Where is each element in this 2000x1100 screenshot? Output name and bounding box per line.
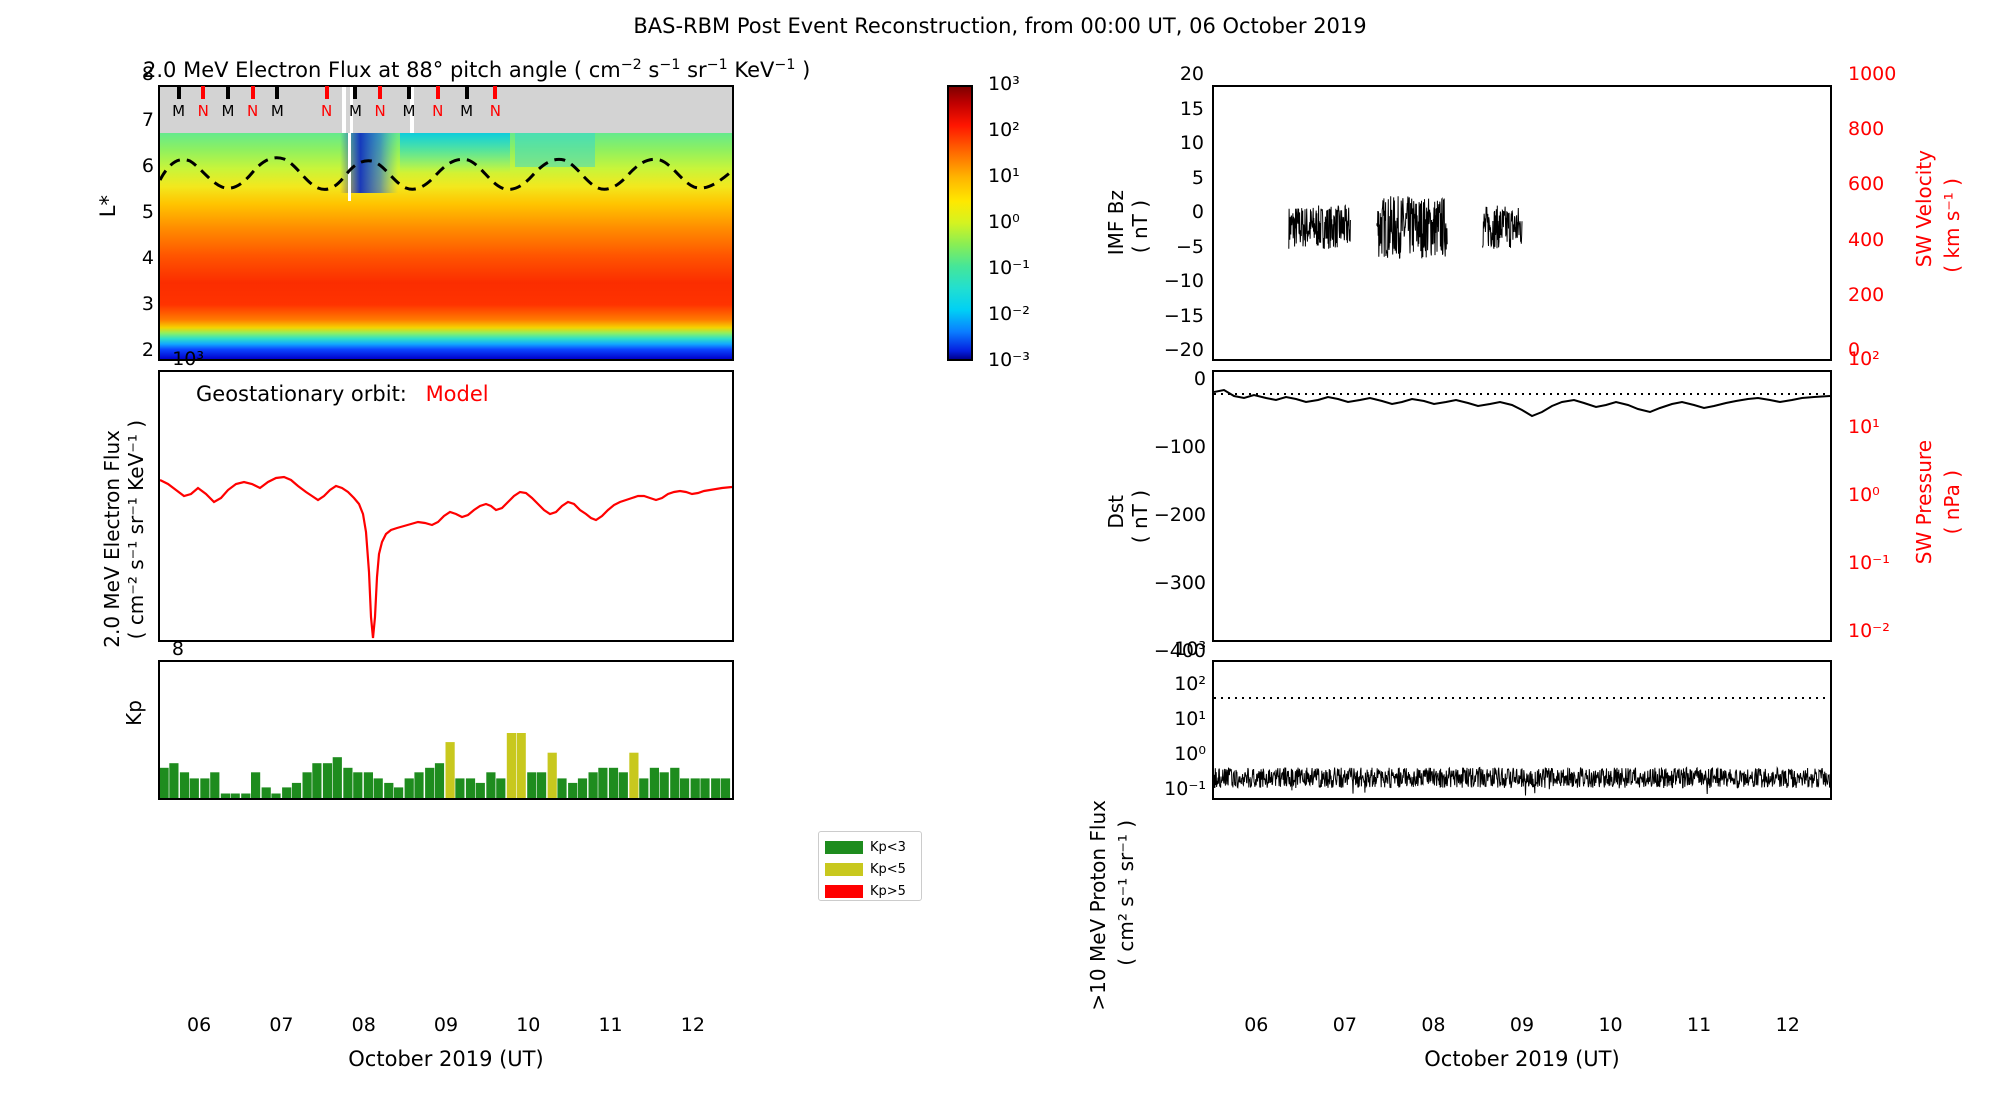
kp-bar — [251, 772, 260, 798]
heatmap-ylabel: L* — [96, 195, 120, 222]
proton-trace — [1214, 768, 1830, 796]
kp-bar — [231, 794, 240, 799]
cb-ticks-tick: 10⁻² — [980, 303, 1058, 325]
pf-yticks-tick: 10⁰ — [1140, 743, 1214, 765]
kp-bar — [527, 772, 536, 798]
pf-xticks-tick: 12 — [1768, 1014, 1808, 1036]
marker-label-n: N — [426, 102, 450, 120]
cb-ticks-tick: 10⁻³ — [980, 349, 1058, 371]
colorbar-tick-labels: 10³10²10¹10⁰10⁻¹10⁻²10⁻³ — [980, 85, 1050, 361]
pf-xticks-tick: 07 — [1325, 1014, 1365, 1036]
kp-bar — [425, 768, 434, 798]
imf-yticks-l-tick: 10 — [1148, 132, 1212, 154]
dst-yticks-r-tick: 10¹ — [1840, 416, 1918, 438]
proton-flux-plot[interactable] — [1212, 660, 1832, 800]
dst-yticks-l-tick: 0 — [1140, 368, 1214, 390]
imf-ytick-labels-right: 10008006004002000 — [1840, 75, 1910, 365]
cb-ticks-tick: 10¹ — [980, 165, 1058, 187]
kp-bar — [598, 768, 607, 798]
imf-yticks-r-tick: 1000 — [1840, 63, 1918, 85]
dst-yticks-l-tick: −300 — [1140, 572, 1214, 594]
dst-ytick-labels-left: 0−100−200−300−400 — [1140, 380, 1206, 650]
imf-yticks-l-tick: −10 — [1148, 270, 1212, 292]
kp-bar — [650, 768, 659, 798]
kp-legend: Kp<3Kp<5Kp>5 — [818, 831, 922, 901]
dst-ylabel-right: SW Pressure — [1912, 440, 1936, 569]
kp-bar — [700, 778, 709, 798]
kp-bar — [180, 772, 189, 798]
imf-bz-segment — [1377, 196, 1447, 258]
dst-ylabel-left: Dst — [1104, 495, 1128, 534]
kp-bar — [374, 778, 383, 798]
kp-xticks-tick: 11 — [591, 1014, 631, 1036]
kp-bar — [517, 733, 526, 798]
dst-yticks-l-tick: −100 — [1140, 436, 1214, 458]
subtitle-d: sr — [680, 58, 706, 82]
imf-yticks-r-tick: 800 — [1840, 118, 1918, 140]
geo-flux-model-line — [160, 477, 732, 638]
heatmap-ytick-labels: 8765432 — [118, 75, 154, 365]
hm-yticks-tick: 4 — [118, 247, 162, 269]
kp-legend-item: Kp>5 — [825, 880, 915, 902]
dst-yticks-r-tick: 10⁻¹ — [1840, 552, 1918, 574]
kp-bar — [721, 778, 730, 798]
imf-yticks-l-tick: 0 — [1148, 201, 1212, 223]
kp-legend-label: Kp<5 — [870, 862, 906, 877]
gf-yticks-tick: 10³ — [148, 348, 212, 370]
marker-label-n: N — [368, 102, 392, 120]
kp-bar — [711, 778, 720, 798]
marker-tick-n — [251, 86, 255, 99]
kp-bar — [609, 768, 618, 798]
kp-bar — [282, 787, 291, 798]
kp-bar — [312, 763, 321, 798]
marker-tick-m — [177, 86, 181, 99]
dst-ylabel-right-line1: SW Pressure — [1912, 440, 1936, 564]
imf-yticks-l-tick: 20 — [1148, 63, 1212, 85]
kp-xticks-tick: 07 — [261, 1014, 301, 1036]
subtitle-c: s — [642, 58, 660, 82]
imf-bz-segment — [1289, 206, 1351, 249]
kp-yticks-tick: 8 — [148, 638, 192, 660]
subtitle-e: KeV — [728, 58, 775, 82]
hm-yticks-tick: 7 — [118, 109, 162, 131]
proton-xtick-labels: 06070809101112 — [1212, 1014, 1832, 1040]
dst-yticks-r-tick: 10² — [1840, 348, 1918, 370]
imf-yticks-l-tick: −15 — [1148, 305, 1212, 327]
kp-bar — [169, 763, 178, 798]
kp-legend-item: Kp<5 — [825, 858, 915, 880]
kp-bar — [691, 778, 700, 798]
imf-ylabel-left-line1: IMF Bz — [1104, 190, 1128, 255]
kp-bar — [271, 794, 280, 799]
kp-bar — [537, 772, 546, 798]
kp-legend-item: Kp<3 — [825, 836, 915, 858]
pf-xticks-tick: 09 — [1502, 1014, 1542, 1036]
kp-xtick-labels: 06070809101112 — [158, 1014, 734, 1040]
subtitle-sup4: −1 — [774, 57, 795, 73]
heatmap-marker-row: MNMNMNMNMNMN — [158, 86, 734, 128]
pf-yticks-tick: 10¹ — [1140, 708, 1214, 730]
kp-bar — [660, 772, 669, 798]
kp-bar — [384, 783, 393, 798]
imf-ylabel-right-line1: SW Velocity — [1912, 150, 1936, 267]
cb-ticks-tick: 10⁻¹ — [980, 257, 1058, 279]
kp-bar — [333, 757, 342, 798]
marker-label-n: N — [315, 102, 339, 120]
page-title: BAS-RBM Post Event Reconstruction, from … — [0, 14, 2000, 38]
colorbar-gradient — [949, 87, 971, 359]
kp-bar — [210, 772, 219, 798]
hm-yticks-tick: 8 — [118, 63, 162, 85]
marker-tick-n — [325, 86, 329, 99]
kp-bar — [200, 778, 209, 798]
kp-bar — [670, 768, 679, 798]
kp-legend-swatch — [825, 841, 863, 854]
marker-tick-n — [493, 86, 497, 99]
kp-bar — [629, 753, 638, 798]
marker-tick-m — [226, 86, 230, 99]
marker-label-m: M — [455, 102, 479, 120]
dst-canvas — [1214, 372, 1830, 640]
marker-label-n: N — [241, 102, 265, 120]
marker-label-n: N — [483, 102, 507, 120]
cb-ticks-tick: 10⁰ — [980, 211, 1058, 233]
proton-canvas — [1214, 662, 1830, 798]
hm-yticks-tick: 3 — [118, 293, 162, 315]
geo-flux-plot[interactable] — [158, 370, 734, 642]
pf-yticks-tick: 10² — [1140, 673, 1214, 695]
kp-bar — [496, 778, 505, 798]
colorbar — [947, 85, 973, 361]
kp-bar — [680, 778, 689, 798]
proton-ytick-labels: 10³10²10¹10⁰10⁻¹ — [1140, 650, 1206, 808]
kp-bar — [292, 783, 301, 798]
imf-ytick-labels-left: 20151050−5−10−15−20 — [1148, 75, 1204, 365]
imf-yticks-r-tick: 400 — [1840, 229, 1918, 251]
kp-canvas — [160, 662, 732, 798]
dst-yticks-r-tick: 10⁻² — [1840, 620, 1918, 642]
kp-bar — [221, 794, 230, 799]
kp-bar — [190, 778, 199, 798]
imf-yticks-l-tick: 15 — [1148, 98, 1212, 120]
marker-tick-n — [436, 86, 440, 99]
dst-plot[interactable] — [1212, 370, 1832, 642]
kp-bar — [414, 772, 423, 798]
kp-bar — [578, 778, 587, 798]
kp-bar — [241, 794, 250, 799]
imf-ylabel-left: IMF Bz — [1104, 190, 1128, 260]
subtitle-sup1: −2 — [621, 57, 642, 73]
kp-bar — [557, 778, 566, 798]
kp-bar — [589, 772, 598, 798]
subtitle-degree-icon: ° — [433, 58, 444, 82]
dst-yticks-r-tick: 10⁰ — [1840, 484, 1918, 506]
cb-ticks-tick: 10² — [980, 119, 1058, 141]
kp-bar — [435, 763, 444, 798]
marker-tick-m — [407, 86, 411, 99]
subtitle-b: pitch angle ( cm — [443, 58, 620, 82]
subtitle-f: ) — [795, 58, 810, 82]
kp-xticks-tick: 12 — [673, 1014, 713, 1036]
heatmap-ylabel-text: L* — [96, 195, 120, 217]
imf-bz-plot[interactable] — [1212, 85, 1832, 361]
kp-bar — [466, 778, 475, 798]
kp-xticks-tick: 08 — [344, 1014, 384, 1036]
proton-ylabel2: ( cm² s⁻¹ sr⁻¹ ) — [1114, 820, 1138, 971]
proton-ylabel: >10 MeV Proton Flux — [1086, 800, 1110, 1016]
marker-tick-m — [275, 86, 279, 99]
hm-yticks-tick: 5 — [118, 201, 162, 223]
kp-bar — [446, 742, 455, 798]
pf-xticks-tick: 10 — [1591, 1014, 1631, 1036]
marker-label-n: N — [191, 102, 215, 120]
kp-bar — [303, 772, 312, 798]
kp-legend-label: Kp<3 — [870, 840, 906, 855]
geo-flux-ylabel: 2.0 MeV Electron Flux — [100, 430, 124, 690]
kp-bar — [262, 787, 271, 798]
kp-bar — [639, 778, 648, 798]
kp-xticks-tick: 09 — [426, 1014, 466, 1036]
geo-flux-canvas — [160, 372, 732, 640]
imf-ylabel-right2: ( km s⁻¹ ) — [1940, 178, 1964, 278]
marker-tick-n — [378, 86, 382, 99]
imf-ylabel-right-line2: ( km s⁻¹ ) — [1940, 178, 1964, 273]
proton-xlabel: October 2019 (UT) — [1212, 1047, 1832, 1071]
imf-yticks-l-tick: −5 — [1148, 236, 1212, 258]
marker-label-m: M — [265, 102, 289, 120]
proton-ylabel-line1: >10 MeV Proton Flux — [1086, 800, 1110, 1011]
kp-bar — [405, 778, 414, 798]
kp-bar — [486, 772, 495, 798]
marker-label-m: M — [167, 102, 191, 120]
imf-yticks-l-tick: 5 — [1148, 167, 1212, 189]
geo-flux-annotation-model: Model — [426, 382, 489, 406]
pf-xticks-tick: 11 — [1679, 1014, 1719, 1036]
marker-label-m: M — [216, 102, 240, 120]
kp-bar — [364, 772, 373, 798]
pf-xticks-tick: 08 — [1413, 1014, 1453, 1036]
kp-plot[interactable] — [158, 660, 734, 800]
imf-yticks-r-tick: 200 — [1840, 284, 1918, 306]
pf-yticks-tick: 10³ — [1140, 638, 1214, 660]
hm-yticks-tick: 6 — [118, 155, 162, 177]
kp-bar — [548, 753, 557, 798]
kp-ylabel: Kp — [122, 700, 146, 731]
imf-yticks-l-tick: −20 — [1148, 339, 1212, 361]
dst-ylabel-right-line2: ( nPa ) — [1940, 470, 1964, 534]
marker-tick-m — [353, 86, 357, 99]
marker-tick-m — [465, 86, 469, 99]
dst-ylabel-right2: ( nPa ) — [1940, 470, 1964, 539]
cb-ticks-tick: 10³ — [980, 73, 1058, 95]
kp-bar — [507, 733, 516, 798]
kp-bar — [568, 783, 577, 798]
marker-label-m: M — [397, 102, 421, 120]
dst-yticks-l-tick: −200 — [1140, 504, 1214, 526]
kp-bar — [394, 787, 403, 798]
subtitle-sup2: −1 — [659, 57, 680, 73]
subtitle-sup3: −1 — [707, 57, 728, 73]
kp-xticks-tick: 10 — [508, 1014, 548, 1036]
kp-bar — [343, 768, 352, 798]
geo-flux-ylabel-line2: ( cm⁻² s⁻¹ sr⁻¹ KeV⁻¹ ) — [124, 420, 148, 639]
kp-bar — [476, 783, 485, 798]
marker-label-m: M — [343, 102, 367, 120]
kp-bar — [353, 772, 362, 798]
kp-bar — [323, 763, 332, 798]
kp-legend-swatch — [825, 885, 863, 898]
dst-ylabel-left-line1: Dst — [1104, 495, 1128, 529]
kp-ylabel-text: Kp — [122, 700, 146, 726]
kp-bar — [619, 772, 628, 798]
kp-bar — [160, 768, 169, 798]
proton-ylabel-line2: ( cm² s⁻¹ sr⁻¹ ) — [1114, 820, 1138, 966]
geo-flux-annotation: Geostationary orbit: Model — [196, 382, 489, 406]
heatmap-subtitle: 2.0 MeV Electron Flux at 88° pitch angle… — [143, 58, 810, 82]
kp-legend-label: Kp>5 — [870, 884, 906, 899]
kp-legend-swatch — [825, 863, 863, 876]
imf-yticks-r-tick: 600 — [1840, 173, 1918, 195]
pf-yticks-tick: 10⁻¹ — [1140, 778, 1214, 800]
imf-bz-canvas — [1214, 87, 1830, 359]
imf-bz-segment — [1482, 206, 1522, 249]
geo-flux-annotation-label: Geostationary orbit: — [196, 382, 407, 406]
geo-flux-ylabel2: ( cm⁻² s⁻¹ sr⁻¹ KeV⁻¹ ) — [124, 420, 148, 700]
proton-flux-line — [1214, 768, 1830, 796]
geo-flux-ylabel-line1: 2.0 MeV Electron Flux — [100, 430, 124, 648]
pf-xticks-tick: 06 — [1236, 1014, 1276, 1036]
kp-xlabel: October 2019 (UT) — [158, 1047, 734, 1071]
kp-xticks-tick: 06 — [179, 1014, 219, 1036]
kp-bar — [455, 778, 464, 798]
subtitle-a: 2.0 MeV Electron Flux at 88 — [143, 58, 433, 82]
marker-tick-n — [201, 86, 205, 99]
imf-bz-trace — [1289, 196, 1522, 258]
imf-ylabel-right: SW Velocity — [1912, 150, 1936, 272]
dst-ytick-labels-right: 10²10¹10⁰10⁻¹10⁻² — [1840, 360, 1910, 650]
